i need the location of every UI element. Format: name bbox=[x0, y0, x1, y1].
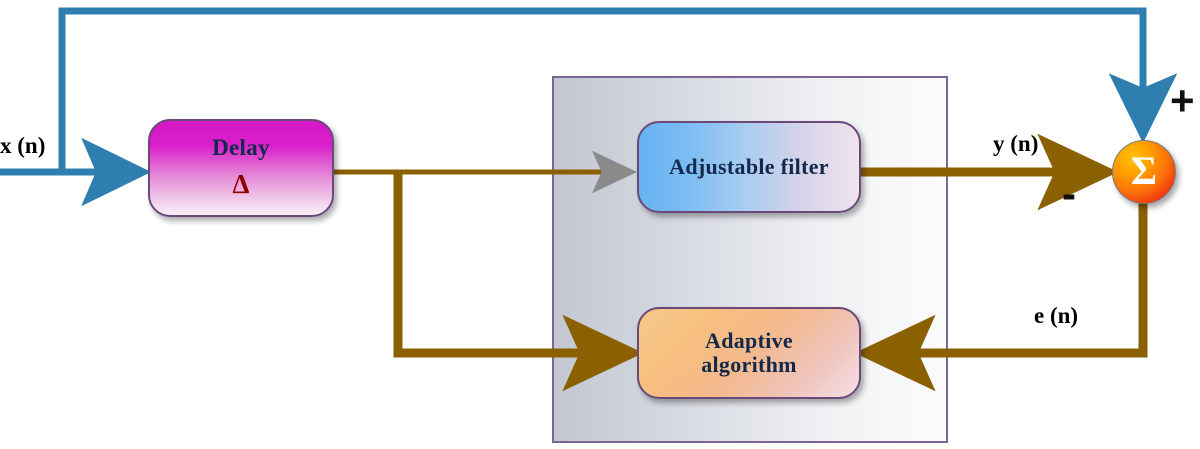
adaptive-algorithm-label-line2: algorithm bbox=[701, 353, 797, 377]
error-signal-label: e (n) bbox=[1034, 303, 1078, 329]
error-en-feedback-line bbox=[869, 202, 1143, 353]
adaptive-algorithm-label-line1: Adaptive bbox=[705, 329, 793, 353]
connector-layer bbox=[0, 0, 1200, 449]
delay-block-delta-symbol: Δ bbox=[233, 169, 250, 200]
filter-output-signal-label: y (n) bbox=[993, 131, 1038, 157]
adjustable-filter-block[interactable]: Adjustable filter bbox=[637, 121, 861, 213]
adaptive-algorithm-block[interactable]: Adaptive algorithm bbox=[637, 307, 861, 399]
block-diagram-canvas: Delay Δ Adjustable filter Adaptive algor… bbox=[0, 0, 1200, 449]
delay-output-branch-to-adaptive bbox=[398, 172, 629, 353]
adjustable-filter-label: Adjustable filter bbox=[669, 155, 829, 179]
delay-block[interactable]: Delay Δ bbox=[148, 119, 334, 217]
delay-block-label: Delay bbox=[212, 136, 270, 161]
summation-positive-sign: + bbox=[1170, 80, 1195, 122]
summation-node[interactable]: Σ bbox=[1112, 140, 1176, 204]
input-branch-junction bbox=[59, 169, 66, 176]
summation-negative-sign: - bbox=[1062, 173, 1076, 215]
sigma-icon: Σ bbox=[1131, 151, 1157, 191]
input-signal-label: x (n) bbox=[0, 133, 45, 159]
